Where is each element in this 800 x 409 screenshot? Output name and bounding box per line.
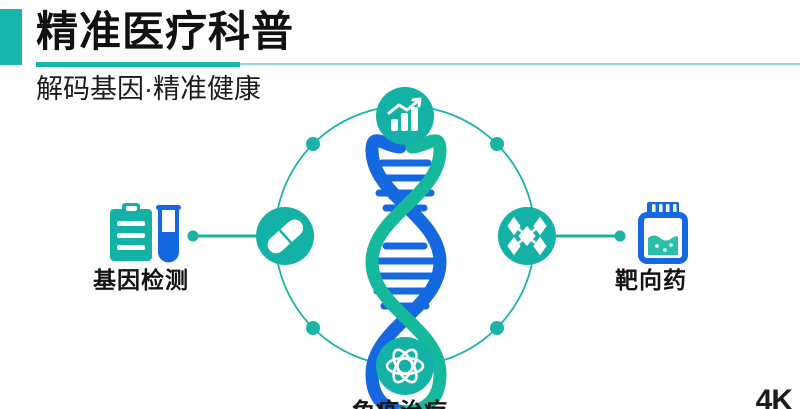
clipboard-test-tube-icon: [110, 203, 181, 261]
label-immunotherapy: 免疫治疗: [0, 392, 800, 409]
node-top[interactable]: [376, 87, 434, 145]
connector-right: [556, 231, 626, 242]
medicine-bottle-icon: [641, 202, 685, 261]
node-right[interactable]: [498, 207, 556, 265]
resolution-watermark: 4K: [756, 384, 792, 409]
connector-left: [188, 231, 263, 242]
node-bottom[interactable]: [376, 337, 434, 395]
label-genetic-testing: 基因检测: [93, 261, 189, 295]
node-left[interactable]: [256, 207, 314, 265]
slide-canvas: 精准医疗科普 解码基因·精准健康: [0, 0, 800, 409]
precision-medicine-diagram: [0, 0, 800, 409]
label-targeted-drug: 靶向药: [615, 261, 687, 295]
test-tube-icon: [156, 205, 181, 261]
